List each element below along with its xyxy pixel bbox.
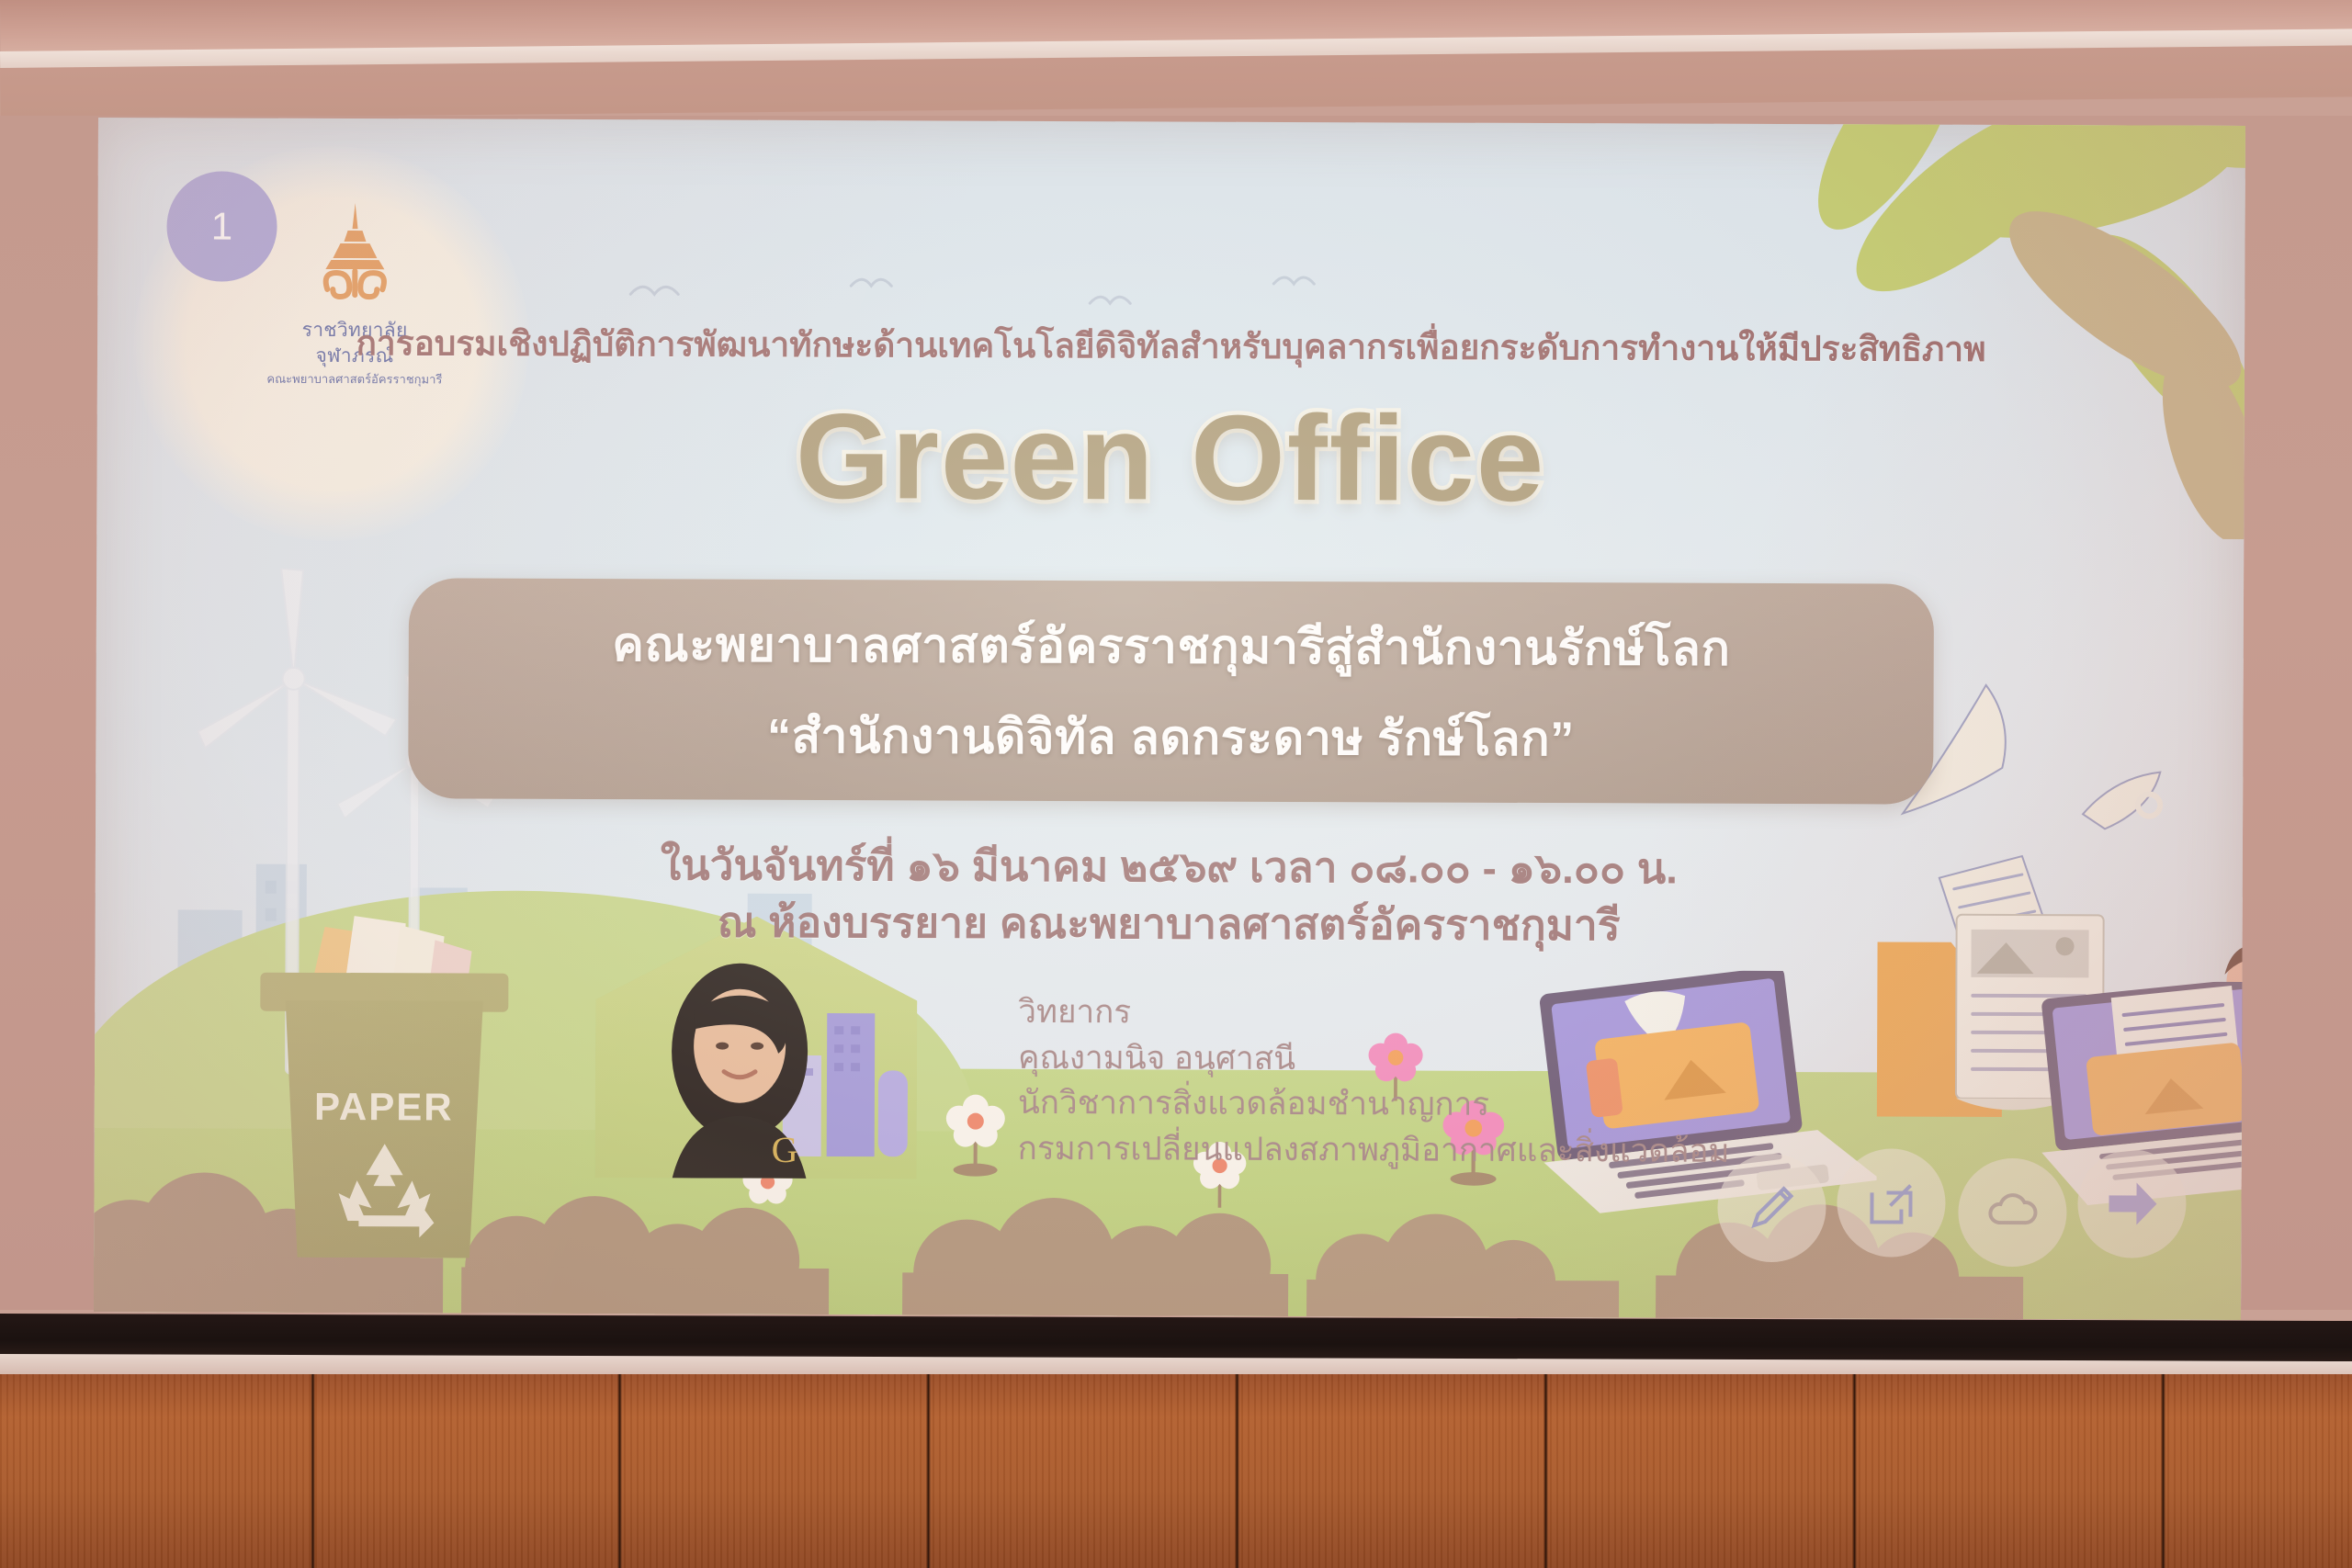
wood-seam: [311, 1374, 315, 1568]
wood-seam: [1852, 1374, 1857, 1568]
cloud-icon: [1958, 1158, 2066, 1267]
speaker-label: วิทยากร: [1018, 989, 1730, 1038]
speaker-organization: กรมการเปลี่ยนแปลงสภาพภูมิอากาศและสิ่งแวด…: [1018, 1126, 1730, 1175]
recycle-bin: PAPER: [259, 945, 508, 1258]
projected-slide: PAPER: [94, 118, 2245, 1320]
banner-line-1: คณะพยาบาลศาสตร์อัครราชกุมารีสู่สำนักงานร…: [612, 605, 1731, 686]
event-details: ในวันจันทร์ที่ ๑๖ มีนาคม ๒๕๖๙ เวลา ๐๘.๐๐…: [96, 834, 2243, 956]
chulabhorn-stupa-icon: [300, 201, 410, 311]
white-flower-icon: [940, 1089, 1012, 1178]
wood-seam: [2161, 1374, 2165, 1568]
speaker-block: วิทยากร คุณงามนิจ อนุศาสนี นักวิชาการสิ่…: [1018, 989, 1731, 1175]
event-place: ณ ห้องบรรยาย คณะพยาบาลศาสตร์อัครราชกุมาร…: [96, 891, 2243, 956]
slide-header-text: การอบรมเชิงปฏิบัติการพัฒนาทักษะด้านเทคโน…: [97, 315, 2245, 378]
circle-icon-row: [1717, 1148, 2186, 1269]
speaker-portrait: G: [643, 957, 837, 1179]
slide-title: Green Office: [96, 384, 2245, 531]
banner-line-2: “สำนักงานดิจิทัล ลดกระดาษ รักษ์โลก”: [767, 697, 1575, 776]
wood-seam: [617, 1374, 622, 1568]
svg-text:G: G: [772, 1129, 798, 1170]
wood-paneling: [0, 1374, 2352, 1568]
speaker-position: นักวิชาการสิ่งแวดล้อมชำนาญการ: [1018, 1080, 1730, 1129]
slide-banner: คณะพยาบาลศาสตร์อัครราชกุมารีสู่สำนักงานร…: [408, 578, 1934, 804]
arrow-right-icon: [2077, 1149, 2186, 1258]
share-icon: [1837, 1148, 1945, 1257]
wood-seam: [1543, 1374, 1548, 1568]
wood-seam: [1235, 1374, 1239, 1568]
pencil-icon: [1717, 1154, 1826, 1262]
speaker-name: คุณงามนิจ อนุศาสนี: [1018, 1035, 1730, 1084]
recycle-icon: [331, 1136, 437, 1237]
conference-room-scene: PAPER: [0, 0, 2352, 1568]
bin-label: PAPER: [260, 1085, 508, 1130]
wood-seam: [926, 1374, 931, 1568]
event-date: ในวันจันทร์ที่ ๑๖ มีนาคม ๒๕๖๙ เวลา ๐๘.๐๐…: [96, 834, 2243, 899]
